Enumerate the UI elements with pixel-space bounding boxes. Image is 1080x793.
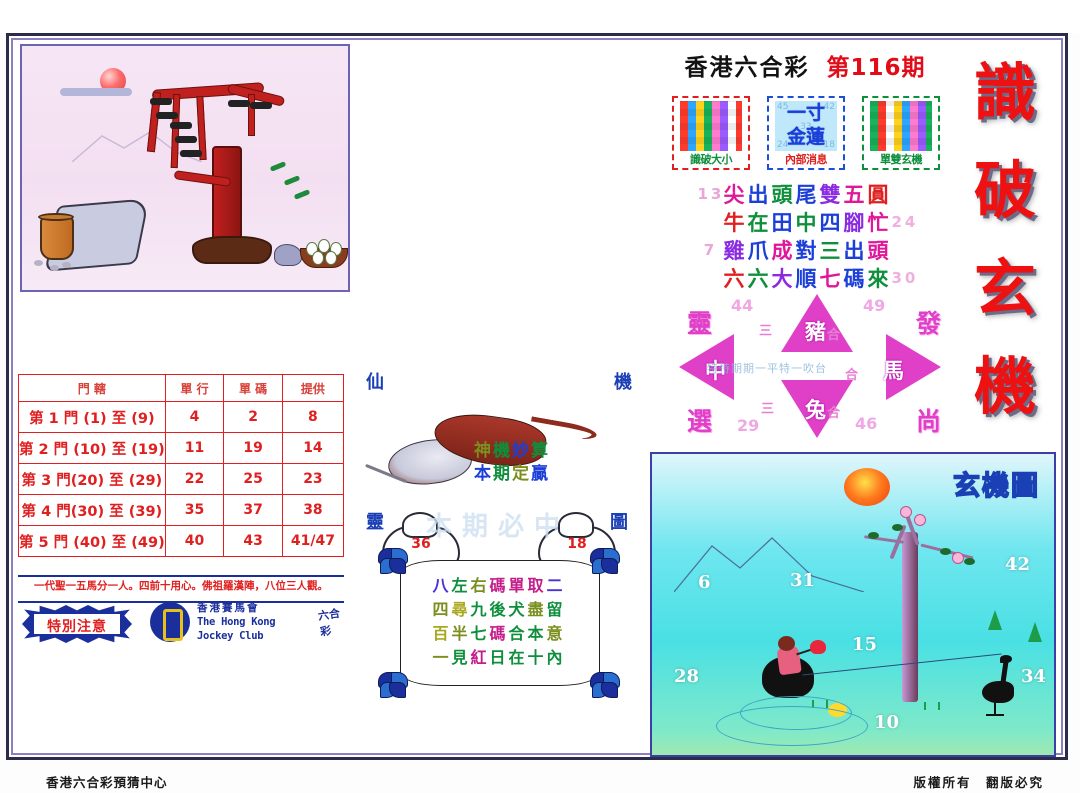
big-title-char-4: 機 bbox=[955, 338, 1055, 436]
seal-top-right: 機 bbox=[614, 368, 632, 394]
poem-char: 三 bbox=[820, 235, 844, 265]
corner-bottom-right: 尚 bbox=[916, 402, 941, 438]
leaf-cluster bbox=[180, 150, 202, 157]
diamond-num-top-right: 49 bbox=[863, 296, 885, 315]
poem-char: 雞 bbox=[724, 235, 748, 265]
poem-char: 定 bbox=[512, 464, 531, 484]
poem-line: 13尖出頭尾雙五圓 bbox=[655, 180, 960, 208]
egg bbox=[312, 251, 324, 265]
table-row: 第 3 門(20) 至 (29) 22 25 23 bbox=[19, 464, 344, 495]
poem-char: 田 bbox=[772, 207, 796, 237]
grass bbox=[924, 702, 940, 710]
poem-char: 七 bbox=[470, 624, 489, 643]
poem-char: 圓 bbox=[868, 179, 892, 209]
row-value-3: 41/47 bbox=[282, 526, 343, 557]
seal-top-left: 仙 bbox=[366, 368, 384, 394]
row-value-1: 22 bbox=[165, 464, 224, 495]
water-ripple bbox=[716, 706, 868, 746]
row-value-1: 40 bbox=[165, 526, 224, 557]
poster-page: 香港六合彩 第116期 識破大小 45 42 33 24 18 一寸 金蓮 內部… bbox=[0, 0, 1080, 793]
tree-root bbox=[192, 236, 272, 264]
col-header-3: 提供 bbox=[282, 375, 343, 402]
stamp-row: 識破大小 45 42 33 24 18 一寸 金蓮 內部消息 單雙玄機 bbox=[672, 96, 940, 172]
poem-char: 日 bbox=[489, 648, 508, 667]
banner-text: 一代聖一五馬分一人。四前十用心。佛祖羅漢陣，八位三人觀。 bbox=[18, 578, 344, 593]
pine-tree bbox=[988, 610, 1002, 630]
poem-char: 六 bbox=[748, 263, 772, 293]
blossom bbox=[952, 552, 964, 564]
scroll-line: 八左右碼單取二 bbox=[400, 574, 598, 598]
blossom bbox=[914, 514, 926, 526]
sun-icon bbox=[844, 468, 890, 506]
person-head bbox=[778, 636, 795, 651]
stamp-right-caption: 單雙玄機 bbox=[880, 153, 922, 167]
poem-char: 在 bbox=[748, 207, 772, 237]
poem-char: 腳 bbox=[844, 207, 868, 237]
row-value-3: 23 bbox=[282, 464, 343, 495]
jockey-club-logo-icon bbox=[150, 602, 190, 642]
leaf-cluster bbox=[250, 102, 272, 109]
row-value-3: 14 bbox=[282, 433, 343, 464]
arrow-up-suffix: 合 bbox=[827, 324, 840, 343]
jockey-club-cn: 香港賽馬會 bbox=[197, 601, 313, 615]
stamp-middle-art: 45 42 33 24 18 一寸 金蓮 bbox=[775, 101, 837, 151]
poem-text: 雞爪成對三出頭 bbox=[724, 235, 892, 265]
tree-trunk bbox=[902, 532, 918, 702]
special-notice-text: 特別注意 bbox=[22, 616, 132, 636]
poem-num-left: 13 bbox=[698, 185, 724, 203]
poem-char: 尖 bbox=[724, 179, 748, 209]
jockey-club-text: 香港賽馬會 The Hong Kong Jockey Club bbox=[197, 601, 313, 643]
col-header-gate: 門 轄 bbox=[19, 375, 166, 402]
poem-char: 見 bbox=[451, 648, 470, 667]
col-header-1: 單 行 bbox=[165, 375, 224, 402]
poem-char: 忙 bbox=[868, 207, 892, 237]
poem-char: 本 bbox=[528, 624, 547, 643]
poem-char: 牛 bbox=[724, 207, 748, 237]
stamp-line-2: 金蓮 bbox=[775, 126, 837, 149]
poem-char: 四 bbox=[432, 600, 451, 619]
corner-bottom-left: 選 bbox=[687, 402, 712, 438]
big-title-char-1: 識 bbox=[955, 44, 1055, 142]
poem-char: 內 bbox=[547, 648, 566, 667]
poem-char: 犬 bbox=[509, 600, 528, 619]
poem-char: 九 bbox=[470, 600, 489, 619]
poem-char: 六 bbox=[724, 263, 748, 293]
pine-tree bbox=[1028, 622, 1042, 642]
row-label: 第 5 門 (40) 至 (49) bbox=[19, 526, 166, 557]
poem-char: 出 bbox=[748, 179, 772, 209]
poem-char: 八 bbox=[432, 576, 451, 595]
poem-char: 算 bbox=[531, 441, 550, 461]
poem-char: 本 bbox=[474, 464, 493, 484]
poem-char: 二 bbox=[547, 576, 566, 595]
bamboo-leaf bbox=[294, 189, 311, 200]
poem-char: 七 bbox=[820, 263, 844, 293]
row-label: 第 4 門(30) 至 (39) bbox=[19, 495, 166, 526]
leaf-cluster bbox=[150, 98, 172, 105]
leaf bbox=[868, 532, 879, 539]
top-margin bbox=[0, 0, 1080, 33]
leaf bbox=[892, 524, 903, 531]
poem-char: 尋 bbox=[451, 600, 470, 619]
arrow-down-char: 兔 bbox=[805, 394, 826, 424]
jar-icon bbox=[40, 216, 74, 260]
poem-char: 出 bbox=[844, 235, 868, 265]
poem-num-right: 30 bbox=[892, 269, 918, 287]
row-value-1: 4 bbox=[165, 402, 224, 433]
table-row: 第 4 門(30) 至 (39) 35 37 38 bbox=[19, 495, 344, 526]
arrow-down-suffix: 合 bbox=[827, 402, 840, 421]
poem-char: 雙 bbox=[820, 179, 844, 209]
diamond-num-top-left: 44 bbox=[731, 296, 753, 315]
poem-char: 爪 bbox=[748, 235, 772, 265]
poem-char: 期 bbox=[493, 464, 512, 484]
poem-char: 紅 bbox=[470, 648, 489, 667]
poem-char: 四 bbox=[820, 207, 844, 237]
leaf-cluster bbox=[175, 136, 197, 143]
poem-char: 妙 bbox=[512, 441, 531, 461]
poem-char: 合 bbox=[509, 624, 528, 643]
butterfly-icon bbox=[378, 548, 408, 574]
poem-text: 牛在田中四腳忙 bbox=[724, 207, 892, 237]
scroll-line: 一見紅日在十內 bbox=[400, 646, 598, 670]
notice-banner: 一代聖一五馬分一人。四前十用心。佛祖羅漢陣，八位三人觀。 bbox=[18, 572, 344, 602]
table-row: 第 5 門 (40) 至 (49) 40 43 41/47 bbox=[19, 526, 344, 557]
butterfly-icon bbox=[378, 672, 408, 698]
poem-char: 右 bbox=[470, 576, 489, 595]
pebble bbox=[62, 262, 71, 268]
special-notice-badge: 特別注意 bbox=[22, 605, 132, 643]
poem-char: 百 bbox=[432, 624, 451, 643]
poem-char: 五 bbox=[844, 179, 868, 209]
egg bbox=[325, 251, 337, 265]
poem-line: 牛在田中四腳忙24 bbox=[655, 208, 960, 236]
red-flower bbox=[810, 640, 826, 654]
pebble bbox=[34, 260, 43, 266]
poem-char: 留 bbox=[547, 600, 566, 619]
poem-char: 頭 bbox=[868, 235, 892, 265]
leaf-cluster bbox=[170, 122, 192, 129]
poem-char: 碼 bbox=[489, 624, 508, 643]
poem-num-left: 7 bbox=[698, 241, 724, 259]
scroll-line: 百半七碼合本意 bbox=[400, 622, 598, 646]
row-value-3: 38 bbox=[282, 495, 343, 526]
middle-column: 仙 機 靈 圖 36 18 22 37 神機妙算 本期定贏 本期必中 bbox=[358, 368, 640, 760]
poem-char: 半 bbox=[451, 624, 470, 643]
mosaic-art-right bbox=[870, 101, 932, 151]
row-value-2: 25 bbox=[224, 464, 283, 495]
arrow-up-prefix: 三 bbox=[759, 320, 772, 339]
bamboo-leaf bbox=[270, 161, 287, 172]
blossom bbox=[900, 506, 912, 518]
mosaic-art-left bbox=[680, 101, 742, 151]
chart-number: 31 bbox=[790, 570, 815, 591]
poem-char: 一 bbox=[432, 648, 451, 667]
gate-table: 門 轄 單 行 單 碼 提供 第 1 門 (1) 至 (9) 4 2 8 第 2… bbox=[18, 374, 344, 557]
arrow-right-char: 馬 bbox=[883, 355, 904, 385]
poem-char: 盡 bbox=[528, 600, 547, 619]
big-title-char-3: 玄 bbox=[955, 240, 1055, 338]
poem-char: 對 bbox=[796, 235, 820, 265]
row-value-2: 43 bbox=[224, 526, 283, 557]
butterfly-icon bbox=[590, 548, 620, 574]
leaf-cluster bbox=[156, 112, 178, 119]
top-left-illustration bbox=[20, 44, 350, 292]
big-title-char-2: 破 bbox=[955, 142, 1055, 240]
diamond-faint-text: 特恃期期一平特一吹台 bbox=[707, 360, 827, 376]
chart-number: 42 bbox=[1005, 554, 1030, 575]
row-value-1: 11 bbox=[165, 433, 224, 464]
arrow-right-suffix: 合 bbox=[845, 364, 858, 383]
chart-number: 28 bbox=[674, 666, 699, 687]
rabbit-icon bbox=[274, 244, 302, 266]
poem-char: 中 bbox=[796, 207, 820, 237]
poem-char: 大 bbox=[772, 263, 796, 293]
poem-char: 頭 bbox=[772, 179, 796, 209]
bamboo-leaf bbox=[284, 175, 301, 186]
poem-char: 來 bbox=[868, 263, 892, 293]
scroll-line: 四尋九後犬盡留 bbox=[400, 598, 598, 622]
stamp-left[interactable]: 識破大小 bbox=[672, 96, 750, 170]
stamp-middle-caption: 內部消息 bbox=[785, 153, 827, 167]
row-label: 第 3 門(20) 至 (29) bbox=[19, 464, 166, 495]
leaf bbox=[940, 548, 951, 555]
poem-char: 神 bbox=[474, 441, 493, 461]
gate-table-wrapper: 門 轄 單 行 單 碼 提供 第 1 門 (1) 至 (9) 4 2 8 第 2… bbox=[18, 374, 344, 557]
poem-num-right: 24 bbox=[892, 213, 918, 231]
poem-char: 在 bbox=[509, 648, 528, 667]
main-poem: 13尖出頭尾雙五圓 牛在田中四腳忙24 7雞爪成對三出頭 六六大順七碼來30 bbox=[655, 180, 960, 292]
poem-char: 順 bbox=[796, 263, 820, 293]
poem-char: 尾 bbox=[796, 179, 820, 209]
scroll-text: 八左右碼單取二 四尋九後犬盡留 百半七碼合本意 一見紅日在十內 bbox=[400, 574, 598, 670]
poem-line: 7雞爪成對三出頭 bbox=[655, 236, 960, 264]
diamond-num-bottom-right: 46 bbox=[855, 414, 877, 433]
mark-six-logo: 六合彩 bbox=[317, 604, 347, 639]
diamond-diagram: 豬 兔 中 馬 三 合 三 合 合 靈 發 選 尚 44 49 29 46 特恃… bbox=[655, 292, 965, 444]
poem-char: 十 bbox=[528, 648, 547, 667]
col-header-2: 單 碼 bbox=[224, 375, 283, 402]
poem-line: 六六大順七碼來30 bbox=[655, 264, 960, 292]
leaf bbox=[964, 558, 975, 565]
arrow-down-prefix: 三 bbox=[761, 398, 774, 417]
poem-text: 尖出頭尾雙五圓 bbox=[724, 179, 892, 209]
issue-number: 第116期 bbox=[827, 48, 926, 82]
poem-char: 單 bbox=[509, 576, 528, 595]
corner-top-right: 發 bbox=[916, 304, 941, 340]
small-poem-line: 神機妙算 bbox=[456, 440, 568, 463]
leaf-cluster bbox=[228, 100, 250, 107]
poem-char: 意 bbox=[547, 624, 566, 643]
row-value-2: 37 bbox=[224, 495, 283, 526]
row-value-1: 35 bbox=[165, 495, 224, 526]
cloud-icon bbox=[60, 88, 132, 96]
stamp-right[interactable]: 單雙玄機 bbox=[862, 96, 940, 170]
stamp-line-1: 一寸 bbox=[775, 102, 837, 125]
arrow-up-char: 豬 bbox=[805, 316, 826, 346]
middle-small-poem: 神機妙算 本期定贏 bbox=[456, 440, 568, 486]
small-poem-line: 本期定贏 bbox=[456, 463, 568, 486]
stamp-left-caption: 識破大小 bbox=[690, 153, 732, 167]
person-figure bbox=[762, 636, 814, 698]
row-value-2: 19 bbox=[224, 433, 283, 464]
poem-char: 左 bbox=[451, 576, 470, 595]
scroll-banner: 八左右碼單取二 四尋九後犬盡留 百半七碼合本意 一見紅日在十內 bbox=[378, 548, 620, 698]
footer-left: 香港六合彩預猜中心 bbox=[46, 772, 168, 791]
big-vertical-title: 識 破 玄 機 bbox=[955, 44, 1055, 436]
table-row: 第 1 門 (1) 至 (9) 4 2 8 bbox=[19, 402, 344, 433]
poem-char: 碼 bbox=[489, 576, 508, 595]
mystic-chart-seal: 玄機圖 bbox=[953, 464, 1040, 503]
row-value-2: 2 bbox=[224, 402, 283, 433]
crane-icon bbox=[980, 655, 1018, 717]
footer-right: 版權所有 翻版必究 bbox=[913, 772, 1044, 791]
jockey-club-logo-block: 香港賽馬會 The Hong Kong Jockey Club 六合彩 bbox=[150, 600, 345, 644]
page-title: 香港六合彩 bbox=[684, 48, 809, 82]
pebble bbox=[50, 265, 59, 271]
seal-bottom-left: 靈 bbox=[366, 508, 384, 534]
row-label: 第 2 門 (10) 至 (19) bbox=[19, 433, 166, 464]
poem-text: 六六大順七碼來 bbox=[724, 263, 892, 293]
diamond-num-bottom-left: 29 bbox=[737, 416, 759, 435]
poem-char: 贏 bbox=[531, 464, 550, 484]
row-label: 第 1 門 (1) 至 (9) bbox=[19, 402, 166, 433]
chart-number: 10 bbox=[874, 712, 899, 733]
poem-char: 碼 bbox=[844, 263, 868, 293]
jockey-club-en: The Hong Kong Jockey Club bbox=[197, 615, 313, 643]
chart-number: 6 bbox=[698, 572, 711, 593]
chart-number: 15 bbox=[852, 634, 877, 655]
table-header-row: 門 轄 單 行 單 碼 提供 bbox=[19, 375, 344, 402]
header: 香港六合彩 第116期 bbox=[655, 48, 955, 82]
corner-top-left: 靈 bbox=[687, 304, 712, 340]
watermark-text: 本期必中 bbox=[398, 506, 598, 543]
stamp-middle[interactable]: 45 42 33 24 18 一寸 金蓮 內部消息 bbox=[767, 96, 845, 170]
chart-number: 34 bbox=[1021, 666, 1046, 687]
butterfly-icon bbox=[590, 672, 620, 698]
poem-char: 後 bbox=[489, 600, 508, 619]
mystic-chart-illustration: 玄機圖 6 bbox=[650, 452, 1056, 757]
poem-char: 機 bbox=[493, 441, 512, 461]
row-value-3: 8 bbox=[282, 402, 343, 433]
poem-char: 取 bbox=[528, 576, 547, 595]
poem-char: 成 bbox=[772, 235, 796, 265]
seal-bottom-right: 圖 bbox=[610, 508, 628, 534]
table-row: 第 2 門 (10) 至 (19) 11 19 14 bbox=[19, 433, 344, 464]
